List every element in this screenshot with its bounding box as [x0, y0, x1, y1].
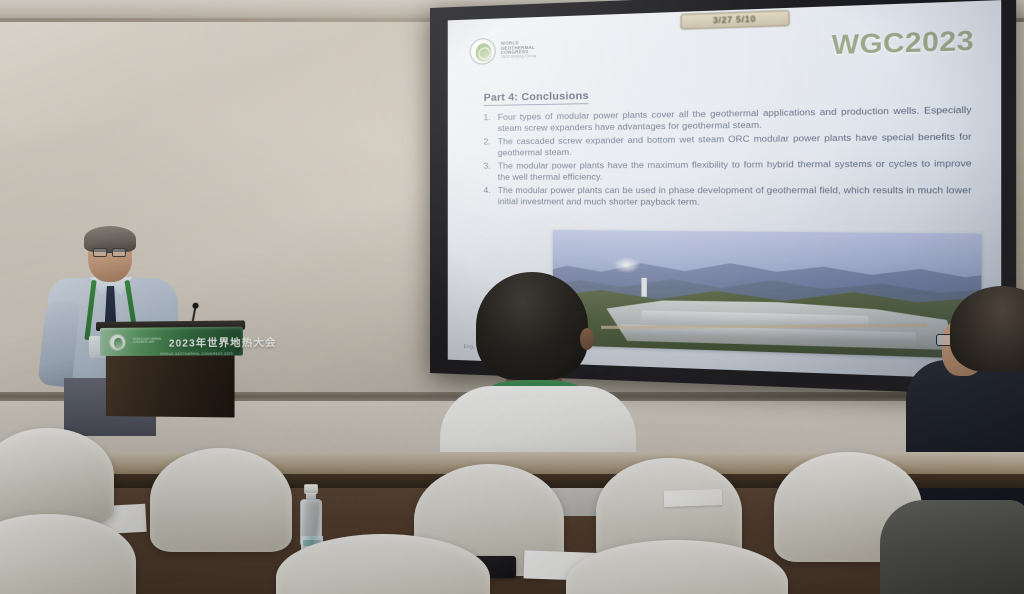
- slide-brand-text: WGC2023: [832, 26, 974, 62]
- list-item: 2. The cascaded screw expander and botto…: [480, 131, 972, 159]
- bullet-text: Four types of modular power plants cover…: [498, 104, 972, 135]
- podium-logo-icon: [109, 333, 126, 350]
- attendee-far-right: [880, 500, 1024, 594]
- bullet-number: 3.: [480, 160, 491, 183]
- logo-line-4: 2023 Beijing China: [501, 55, 536, 60]
- geothermal-swirl-icon: [470, 38, 496, 65]
- eyeglasses-icon: [93, 248, 129, 257]
- podium-signage: WORLD GEOTHERMAL CONGRESS 2023 2023年世界地热…: [100, 327, 243, 356]
- podium-logo-line-2: CONGRESS 2023: [133, 342, 162, 345]
- bullet-number: 2.: [480, 136, 491, 159]
- list-item: 1. Four types of modular power plants co…: [480, 104, 972, 135]
- bullet-number: 4.: [480, 184, 491, 207]
- attendee-right-suit: [906, 360, 1024, 512]
- bullet-text: The cascaded screw expander and bottom w…: [498, 131, 972, 159]
- podium-body: [106, 356, 235, 418]
- bottle-body: [300, 499, 322, 546]
- list-item: 4. The modular power plants can be used …: [480, 184, 972, 209]
- bullet-text: The modular power plants can be used in …: [498, 184, 972, 209]
- bullet-text: The modular power plants have the maximu…: [498, 157, 972, 183]
- slide-bullet-list: 1. Four types of modular power plants co…: [480, 104, 972, 211]
- attendee-right-hair: [950, 286, 1024, 372]
- paper-sheet: [664, 489, 723, 507]
- attendee-center-hair: [476, 272, 588, 380]
- list-item: 3. The modular power plants have the max…: [480, 157, 972, 183]
- slide-title-text: Part 4: Conclusions: [484, 90, 589, 106]
- lectern-podium: WORLD GEOTHERMAL CONGRESS 2023 2023年世界地热…: [96, 320, 245, 417]
- bullet-number: 1.: [480, 112, 491, 135]
- podium-sign-chinese: 2023年世界地热大会: [169, 333, 277, 349]
- chair: [150, 448, 292, 552]
- wgc-congress-logo: WORLD GEOTHERMAL CONGRESS 2023 Beijing C…: [470, 37, 537, 65]
- water-bottle: [300, 484, 322, 546]
- conference-room-photo: WORLD GEOTHERMAL CONGRESS 2023 Beijing C…: [0, 0, 1024, 594]
- attendee-center-ear: [580, 328, 594, 350]
- podium-logo-words: WORLD GEOTHERMAL CONGRESS 2023: [133, 339, 162, 344]
- slide-title: Part 4: Conclusions: [484, 90, 589, 104]
- projector-osd-badge: 3/27 5/10: [680, 10, 789, 30]
- photo-steam-plume: [613, 256, 641, 273]
